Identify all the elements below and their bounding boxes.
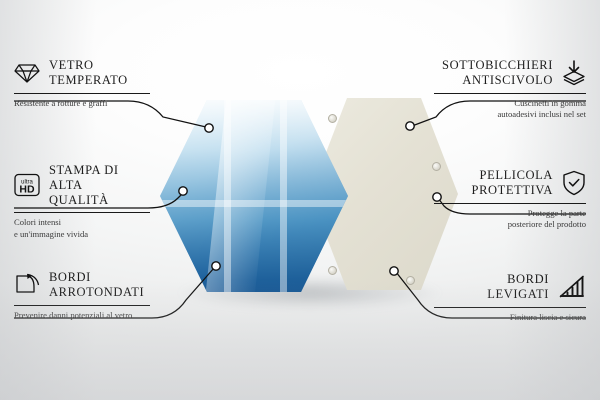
mullion-vertical-1 xyxy=(224,100,231,292)
callout-rule xyxy=(14,212,150,213)
mullion-horizontal xyxy=(160,200,348,207)
callout-bordi-levigati: BORDI LEVIGATI Finitura liscia e sicura xyxy=(434,272,586,323)
ultra-hd-icon-main: HD xyxy=(19,184,35,196)
callout-title-line2: LEVIGATI xyxy=(487,287,549,302)
callout-title-line1: SOTTOBICCHIERI xyxy=(442,58,553,73)
callout-caption-line1: Protegge la parte xyxy=(434,208,586,220)
callout-caption-line2: e un'immagine vivida xyxy=(14,229,150,241)
callout-caption-line2: autoadesivi inclusi nel set xyxy=(434,109,586,121)
callout-caption-line1: Resistente a rotture e graffi xyxy=(14,98,150,110)
pad-top-left xyxy=(328,114,337,123)
callout-title-line2: ANTISCIVOLO xyxy=(442,73,553,88)
callout-title-line2: TEMPERATO xyxy=(49,73,128,88)
callout-vetro-temperato: VETRO TEMPERATO Resistente a rotture e g… xyxy=(14,58,150,109)
callout-caption-line1: Finitura liscia e sicura xyxy=(434,312,586,324)
callout-rule xyxy=(434,203,586,204)
callout-title-line1: VETRO xyxy=(49,58,128,73)
callout-title-line1: BORDI xyxy=(49,270,144,285)
hatched-triangle-icon xyxy=(558,275,586,299)
pad-bottom-right xyxy=(406,276,415,285)
callout-caption-line1: Colori intensi xyxy=(14,217,150,229)
callout-caption-line1: Prevenire danni potenziali al vetro xyxy=(14,310,150,322)
callout-stampa-alta-qualita: ultra HD STAMPA DI ALTA QUALITÀ Colori i… xyxy=(14,163,150,240)
callout-rule xyxy=(14,93,150,94)
rounded-corner-icon xyxy=(14,273,40,297)
diamond-icon xyxy=(14,62,40,84)
pad-stack-arrow-icon xyxy=(562,60,586,86)
callout-title-line1: PELLICOLA xyxy=(472,168,553,183)
callout-rule xyxy=(434,307,586,308)
ultra-hd-icon: ultra HD xyxy=(14,173,40,197)
callout-pellicola-protettiva: PELLICOLA PROTETTIVA Protegge la parte p… xyxy=(434,168,586,231)
callout-caption-line2: posteriore del prodotto xyxy=(434,219,586,231)
infographic-canvas: VETRO TEMPERATO Resistente a rotture e g… xyxy=(0,0,600,400)
callout-title-line2: PROTETTIVA xyxy=(472,183,553,198)
callout-sottobicchieri-antiscivolo: SOTTOBICCHIERI ANTISCIVOLO Cuscinetti in… xyxy=(434,58,586,121)
pad-bottom-left xyxy=(328,266,337,275)
callout-title-line2: ARROTONDATI xyxy=(49,285,144,300)
callout-title-line1: BORDI xyxy=(487,272,549,287)
callout-title-line1: STAMPA DI ALTA xyxy=(49,163,150,193)
callout-caption-line1: Cuscinetti in gomma xyxy=(434,98,586,110)
callout-title-line2: QUALITÀ xyxy=(49,193,150,208)
callout-bordi-arrotondati: BORDI ARROTONDATI Prevenire danni potenz… xyxy=(14,270,150,321)
mullion-vertical-2 xyxy=(280,100,287,292)
light-beam xyxy=(204,79,277,313)
shield-check-icon xyxy=(562,170,586,196)
callout-rule xyxy=(14,305,150,306)
callout-rule xyxy=(434,93,586,94)
